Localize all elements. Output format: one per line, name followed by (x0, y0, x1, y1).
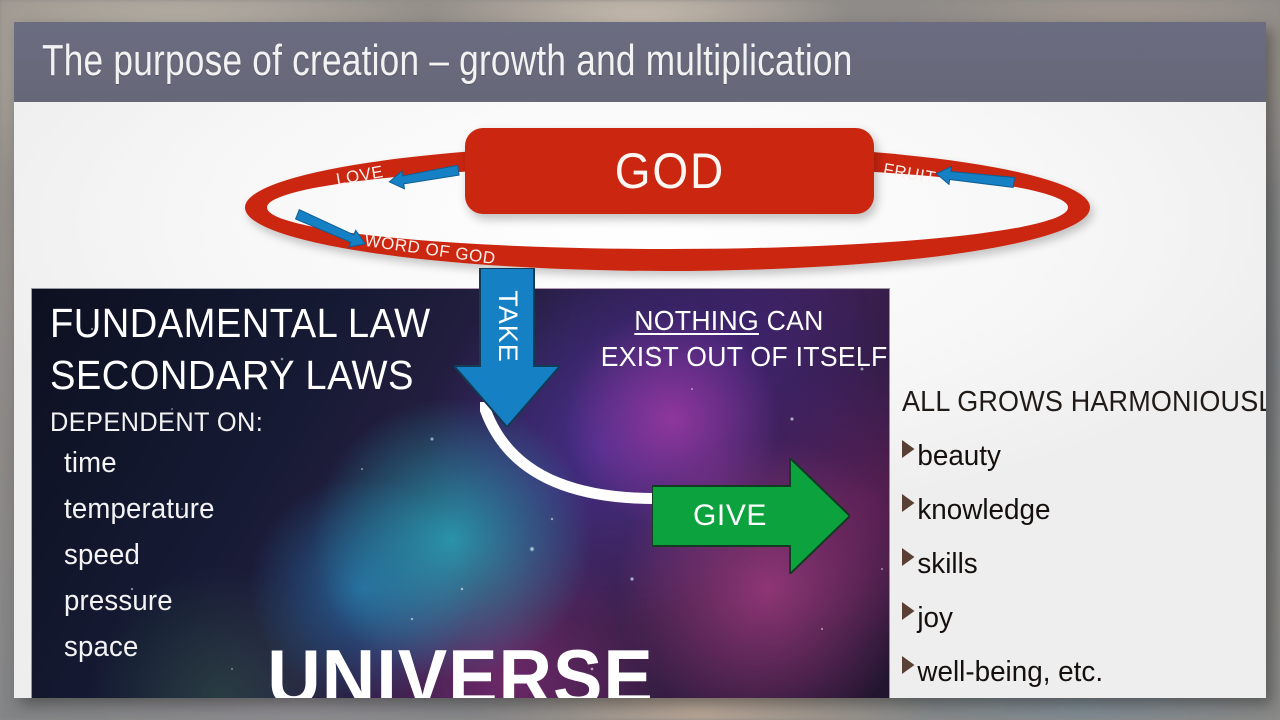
list-item: pressure (64, 578, 439, 624)
take-arrow-label: TAKE (454, 268, 560, 384)
outcomes-list: beauty knowledge skills joy well-being, … (902, 429, 1262, 698)
list-item: joy (902, 591, 1248, 645)
fundamental-law-heading: FUNDAMENTAL LAW (50, 297, 431, 349)
list-item: skills (902, 537, 1248, 591)
triangle-bullet-icon (902, 494, 914, 512)
statement-line2: EXIST OUT OF ITSELF (601, 339, 858, 375)
nothing-can-exist-statement: NOTHING CAN EXIST OUT OF ITSELF (594, 303, 864, 375)
list-item-label: knowledge (917, 483, 1050, 537)
list-item: well-being, etc. (902, 645, 1248, 698)
page-title: The purpose of creation – growth and mul… (42, 36, 853, 86)
outcomes-column: ALL GROWS HARMONIOUSLY beauty knowledge … (902, 386, 1262, 698)
slide-canvas: GOD LOVE FRUIT WORD OF GOD FUNDAMENTAL (14, 102, 1266, 698)
triangle-bullet-icon (902, 440, 914, 458)
god-node-label: GOD (614, 142, 724, 200)
list-item: time (64, 440, 439, 486)
triangle-bullet-icon (902, 656, 914, 674)
list-item-label: well-being, etc. (917, 645, 1103, 698)
slide-title-bar: The purpose of creation – growth and mul… (14, 22, 1266, 102)
list-item-label: beauty (917, 429, 1001, 483)
list-item: beauty (902, 429, 1248, 483)
list-item: knowledge (902, 483, 1248, 537)
give-arrow-label: GIVE (652, 458, 808, 574)
secondary-laws-heading: SECONDARY LAWS (50, 349, 431, 401)
statement-emphasis: NOTHING (634, 305, 759, 336)
triangle-bullet-icon (902, 548, 914, 566)
laws-text-block: FUNDAMENTAL LAW SECONDARY LAWS DEPENDENT… (50, 297, 459, 670)
list-item-label: skills (917, 537, 977, 591)
give-arrow[interactable]: GIVE (652, 458, 850, 574)
list-item: speed (64, 532, 439, 578)
outcomes-heading: ALL GROWS HARMONIOUSLY (902, 386, 1237, 419)
universe-caption: UNIVERSE (53, 632, 867, 698)
take-arrow[interactable]: TAKE (454, 268, 560, 427)
dependent-on-label: DEPENDENT ON: (50, 407, 435, 438)
god-node[interactable]: GOD (465, 128, 874, 214)
triangle-bullet-icon (902, 602, 914, 620)
list-item-label: joy (917, 591, 953, 645)
list-item: temperature (64, 486, 439, 532)
presentation-slide: The purpose of creation – growth and mul… (14, 22, 1266, 698)
statement-line1-rest: CAN (759, 305, 824, 336)
